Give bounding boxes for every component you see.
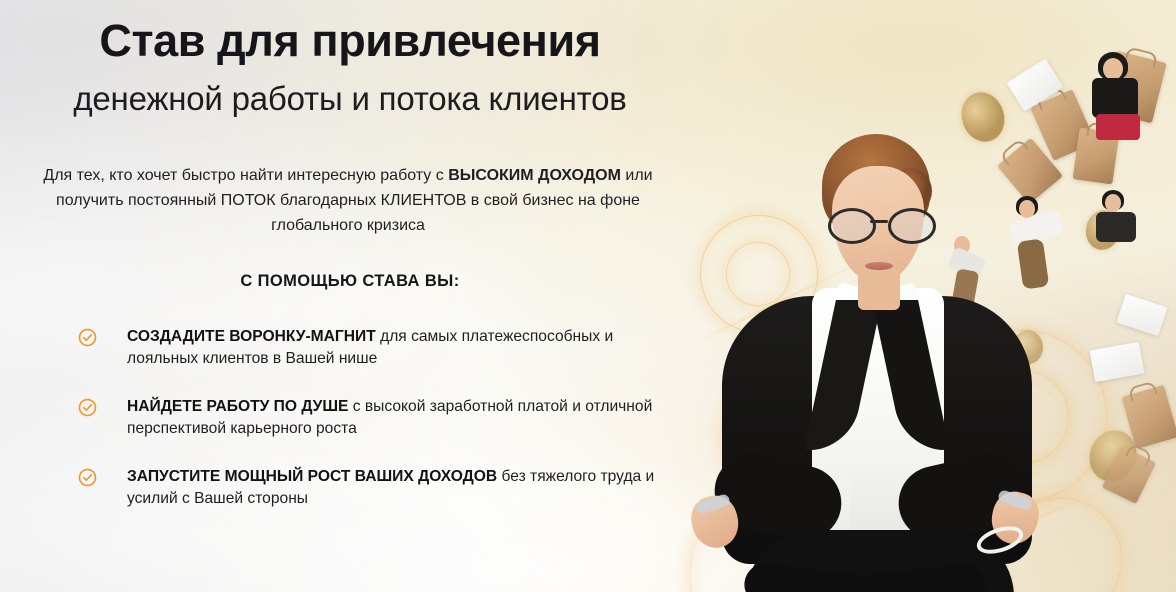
benefits-heading: С ПОМОЩЬЮ СТАВА ВЫ:	[0, 272, 700, 291]
benefits-list: СОЗДАДИТЕ ВОРОНКУ-МАГНИТ для самых плате…	[78, 326, 678, 536]
page-subtitle: денежной работы и потока клиентов	[0, 80, 700, 118]
check-circle-icon	[78, 468, 97, 487]
check-circle-icon	[78, 328, 97, 347]
lead-highlight: ВЫСОКИМ ДОХОДОМ	[448, 167, 621, 184]
list-item: СОЗДАДИТЕ ВОРОНКУ-МАГНИТ для самых плате…	[78, 326, 678, 378]
list-item: НАЙДЕТЕ РАБОТУ ПО ДУШЕ с высокой заработ…	[78, 396, 678, 448]
list-item: ЗАПУСТИТЕ МОЩНЫЙ РОСТ ВАШИХ ДОХОДОВ без …	[78, 466, 678, 518]
meditating-woman-illustration	[636, 130, 1092, 592]
list-item-text: СОЗДАДИТЕ ВОРОНКУ-МАГНИТ для самых плате…	[127, 326, 678, 370]
list-item-strong: СОЗДАДИТЕ ВОРОНКУ-МАГНИТ	[127, 328, 376, 345]
lead-text-part-1: Для тех, кто хочет быстро найти интересн…	[43, 167, 448, 184]
page-title: Став для привлечения	[0, 16, 700, 66]
list-item-text: ЗАПУСТИТЕ МОЩНЫЙ РОСТ ВАШИХ ДОХОДОВ без …	[127, 466, 678, 510]
promo-banner: Став для привлечения денежной работы и п…	[0, 0, 1176, 592]
check-circle-icon	[78, 398, 97, 417]
list-item-text: НАЙДЕТЕ РАБОТУ ПО ДУШЕ с высокой заработ…	[127, 396, 678, 440]
list-item-strong: ЗАПУСТИТЕ МОЩНЫЙ РОСТ ВАШИХ ДОХОДОВ	[127, 468, 497, 485]
list-item-strong: НАЙДЕТЕ РАБОТУ ПО ДУШЕ	[127, 398, 348, 415]
eyeglasses-icon	[828, 208, 930, 238]
lead-paragraph: Для тех, кто хочет быстро найти интересн…	[34, 164, 662, 238]
text-column: Став для привлечения денежной работы и п…	[0, 0, 700, 592]
